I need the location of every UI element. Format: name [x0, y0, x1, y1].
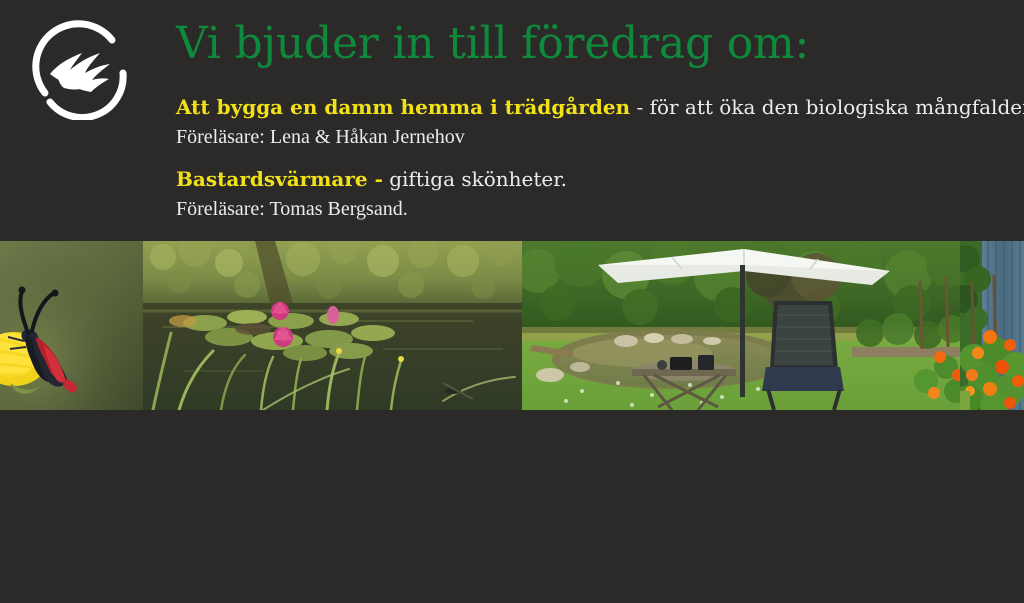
- garden-pond-with-water-lilies-photo: [143, 241, 522, 410]
- talk-item-2: Bastardsvärmare - giftiga skönheter. För…: [176, 165, 567, 223]
- poster-footer: När? 30 mars kl 18.00 Var? BRF. Åkantens…: [0, 410, 1024, 603]
- talk-lecturer-2: Föreläsare: Tomas Bergsand.: [176, 196, 567, 223]
- nasturtium-flowers-by-blue-fence-photo: [960, 241, 1024, 410]
- invitation-poster: Vi bjuder in till föredrag om: Att bygga…: [0, 0, 1024, 603]
- talk-item-1: Att bygga en damm hemma i trädgården - f…: [176, 93, 1024, 151]
- talk-title-1-sub: - för att öka den biologiska mångfalden.: [630, 95, 1024, 119]
- talk-title-1: Att bygga en damm hemma i trädgården - f…: [176, 93, 1024, 121]
- talk-title-2-sub: giftiga skönheter.: [383, 167, 567, 191]
- burnet-moth-on-yellow-dandelion-photo: [0, 241, 143, 410]
- talk-title-2: Bastardsvärmare - giftiga skönheter.: [176, 165, 567, 193]
- poster-header: Vi bjuder in till föredrag om: Att bygga…: [0, 0, 1024, 241]
- bird-in-broken-circle-logo: [28, 18, 130, 120]
- garden-pond-with-parasol-and-chair-photo: [522, 241, 960, 410]
- talk-title-1-main: Att bygga en damm hemma i trädgården: [176, 95, 630, 119]
- talk-lecturer-1: Föreläsare: Lena & Håkan Jernehov: [176, 124, 1024, 151]
- photo-strip: [0, 241, 1024, 410]
- talk-title-2-main: Bastardsvärmare -: [176, 167, 383, 191]
- page-title: Vi bjuder in till föredrag om:: [176, 16, 809, 71]
